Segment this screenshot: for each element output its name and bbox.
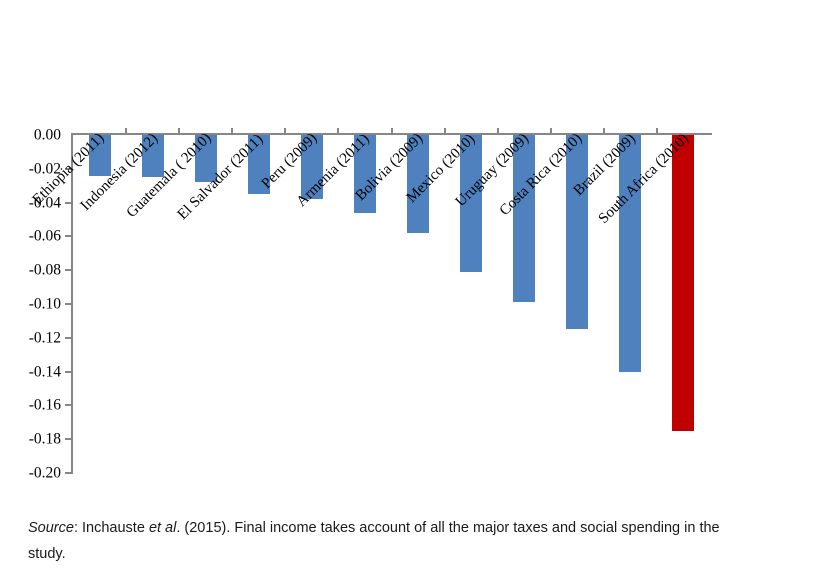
plot-area	[0, 0, 813, 500]
bar-chart: 0.00-0.02-0.04-0.06-0.08-0.10-0.12-0.14-…	[0, 0, 813, 500]
figure: 0.00-0.02-0.04-0.06-0.08-0.10-0.12-0.14-…	[0, 0, 813, 572]
bar[interactable]	[672, 135, 694, 431]
bar[interactable]	[619, 135, 641, 372]
source-label: Source	[28, 520, 74, 536]
source-etal: et al	[149, 520, 176, 536]
bar[interactable]	[513, 135, 535, 302]
bar[interactable]	[566, 135, 588, 329]
source-note: Source: Inchauste et al. (2015). Final i…	[28, 515, 728, 567]
source-colon: :	[74, 520, 82, 536]
source-author: Inchauste	[82, 520, 149, 536]
